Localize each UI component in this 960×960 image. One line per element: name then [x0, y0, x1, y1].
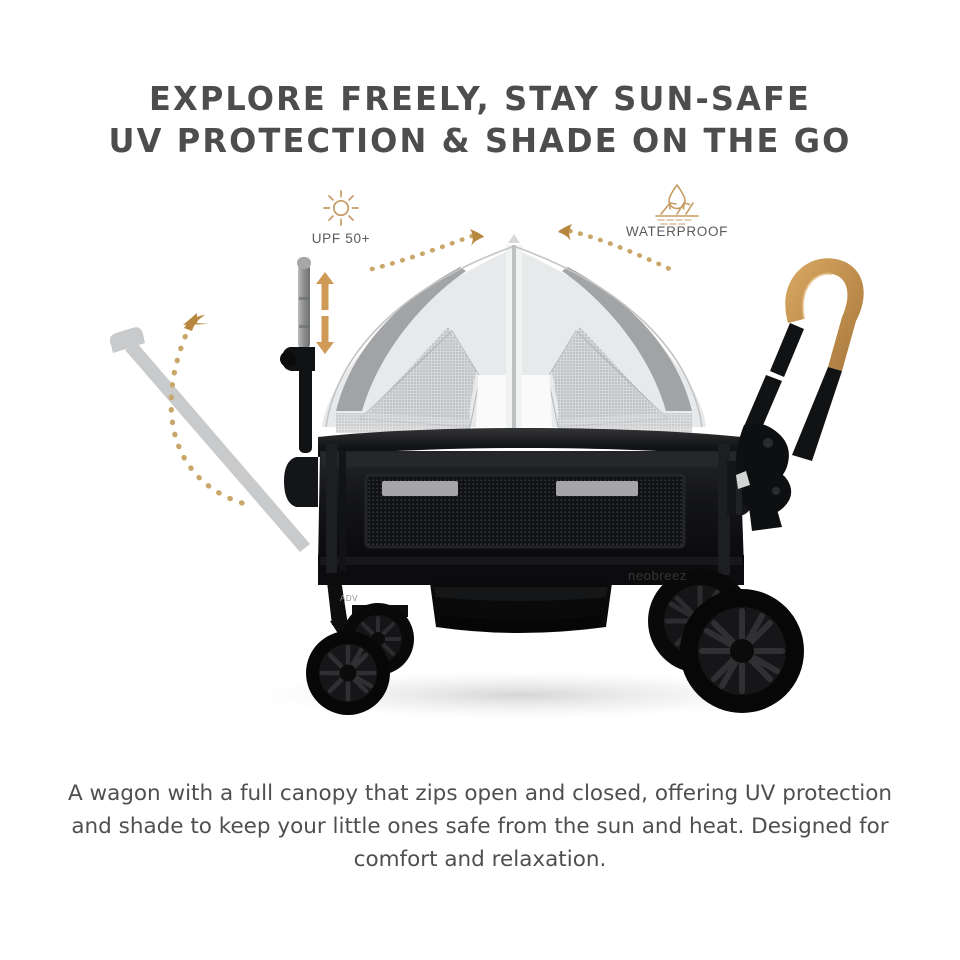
headline-line-1: EXPLORE FREELY, STAY SUN-SAFE	[14, 78, 945, 120]
reflective-strip	[382, 481, 458, 496]
illustration-stage: UPF 50+	[0, 175, 960, 745]
page-title: EXPLORE FREELY, STAY SUN-SAFE UV PROTECT…	[0, 78, 960, 162]
rear-wheel	[680, 589, 804, 713]
wagon-body	[284, 428, 755, 585]
telescoping-pole	[280, 257, 315, 453]
reflective-strip	[556, 481, 638, 496]
description-caption: A wagon with a full canopy that zips ope…	[50, 777, 910, 877]
push-handle	[736, 258, 864, 531]
product-infographic: EXPLORE FREELY, STAY SUN-SAFE UV PROTECT…	[0, 0, 960, 960]
canopy	[322, 234, 706, 433]
wagon-product-illustration	[0, 175, 960, 745]
brand-wordmark: neobreez	[628, 568, 687, 583]
adv-badge: ADV	[340, 594, 358, 603]
headline-line-2: UV PROTECTION & SHADE ON THE GO	[14, 120, 945, 162]
handle-grip	[785, 258, 863, 371]
under-basket	[430, 583, 612, 633]
front-wheel	[306, 631, 390, 715]
